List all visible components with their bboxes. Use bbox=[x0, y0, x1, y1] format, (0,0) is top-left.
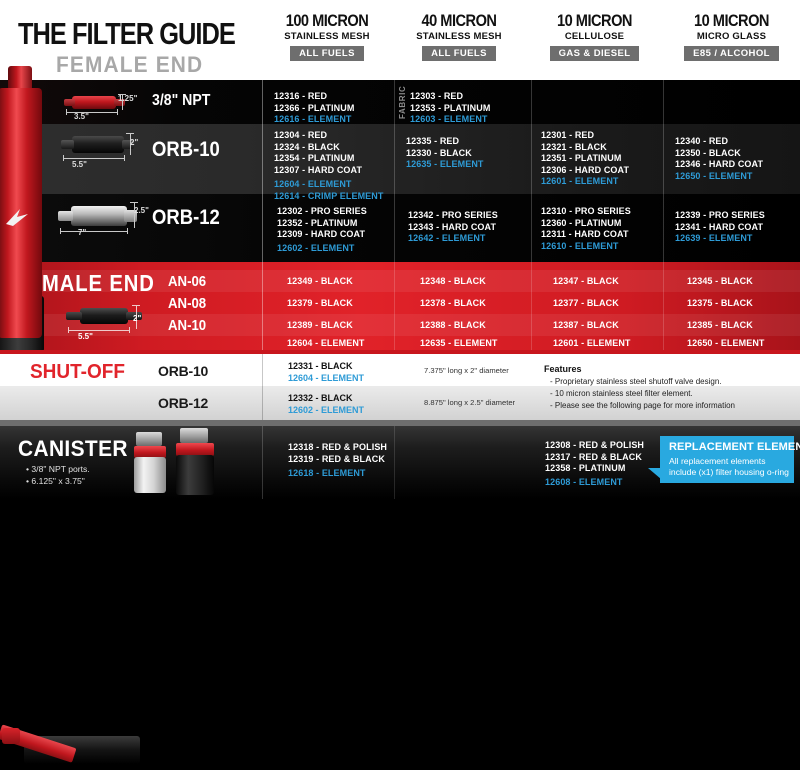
cell-element-10micron-cellulose: 12601 - ELEMENT bbox=[553, 338, 631, 350]
column-header-sub: STAINLESS MESH bbox=[394, 31, 524, 43]
column-header-sub: MICRO GLASS bbox=[663, 31, 800, 43]
cell-an10-10micron-cellulose: 12387 - BLACK bbox=[553, 320, 619, 332]
cell-an06-100micron: 12349 - BLACK bbox=[287, 276, 353, 288]
column-header-10-micron-micro-glass: 10 MICRON MICRO GLASS E85 / ALCOHOL bbox=[663, 12, 800, 61]
section-title-male-end: MALE END bbox=[42, 270, 155, 297]
callout-line-2: include (x1) filter housing o-ring bbox=[669, 467, 786, 478]
dim-diameter-orb12: 2.5" bbox=[134, 206, 149, 215]
row-label-npt: 3/8" NPT bbox=[152, 92, 210, 110]
features-title: Features bbox=[544, 364, 582, 374]
section-title-canister: CANISTER bbox=[18, 436, 128, 462]
column-header-badge: ALL FUELS bbox=[422, 46, 496, 61]
dim-diameter-npt: 1.25" bbox=[118, 94, 137, 103]
canister-bullet-2: • 6.125" x 3.75" bbox=[26, 476, 85, 486]
cell-shutoff-orb10-parts: 12331 - BLACK 12604 - ELEMENT bbox=[288, 361, 364, 384]
cell-orb10-10micron-microglass: 12340 - RED 12350 - BLACK 12346 - HARD C… bbox=[675, 136, 763, 182]
cell-canister-10micron-cellulose: 12308 - RED & POLISH 12317 - RED & BLACK… bbox=[545, 440, 644, 488]
cell-orb12-100micron: 12302 - PRO SERIES 12352 - PLATINUM 1230… bbox=[277, 206, 367, 254]
dim-length-orb10: 5.5" bbox=[72, 160, 87, 169]
column-divider-2 bbox=[394, 262, 395, 350]
dim-diameter-orb10: 2" bbox=[130, 138, 138, 147]
column-header-main: 40 MICRON bbox=[403, 12, 515, 30]
row-label-an10: AN-10 bbox=[168, 317, 206, 334]
feature-line-1: - Proprietary stainless steel shutoff va… bbox=[550, 377, 722, 386]
brand-logo-icon bbox=[4, 206, 32, 228]
cell-an06-40micron: 12348 - BLACK bbox=[420, 276, 486, 288]
cell-orb10-100micron: 12304 - RED 12324 - BLACK 12354 - PLATIN… bbox=[274, 130, 383, 203]
column-header-sub: STAINLESS MESH bbox=[262, 31, 392, 43]
column-header-40-micron: 40 MICRON STAINLESS MESH ALL FUELS bbox=[394, 12, 524, 61]
cell-an10-10micron-microglass: 12385 - BLACK bbox=[687, 320, 753, 332]
column-header-badge: E85 / ALCOHOL bbox=[684, 46, 779, 61]
cell-canister-100micron: 12318 - RED & POLISH 12319 - RED & BLACK… bbox=[288, 442, 387, 480]
cell-an10-100micron: 12389 - BLACK bbox=[287, 320, 353, 332]
column-header-badge: GAS & DIESEL bbox=[550, 46, 640, 61]
page-title: THE FILTER GUIDE bbox=[18, 16, 235, 52]
cell-an08-100micron: 12379 - BLACK bbox=[287, 298, 353, 310]
dim-diameter-male-end: 2" bbox=[133, 314, 141, 323]
male-end-section: MALE END 5.5" 2" AN-06 AN-08 AN-10 12349… bbox=[0, 262, 800, 350]
product-image-canister-black bbox=[170, 428, 226, 496]
dim-length-orb12: 7" bbox=[78, 228, 86, 237]
feature-line-2: - 10 micron stainless steel filter eleme… bbox=[550, 389, 693, 398]
cell-an06-10micron-cellulose: 12347 - BLACK bbox=[553, 276, 619, 288]
cell-element-40micron: 12635 - ELEMENT bbox=[420, 338, 498, 350]
cell-npt-100micron: 12316 - RED 12366 - PLATINUM 12616 - ELE… bbox=[274, 91, 354, 126]
female-end-section: 3.5" 1.25" 3/8" NPT 12316 - RED 12366 - … bbox=[0, 80, 800, 262]
column-divider-2 bbox=[394, 426, 395, 499]
section-title-shut-off: SHUT-OFF bbox=[30, 361, 125, 384]
dim-length-male-end: 5.5" bbox=[78, 332, 93, 341]
column-divider-4 bbox=[663, 80, 664, 262]
dim-note-shutoff-orb12: 8.875" long x 2.5" diameter bbox=[424, 398, 515, 407]
row-label-an06: AN-06 bbox=[168, 273, 206, 290]
cell-npt-40micron: 12303 - RED 12353 - PLATINUM 12603 - ELE… bbox=[410, 91, 490, 126]
column-divider-1 bbox=[262, 426, 263, 499]
product-image-shutoff-valve bbox=[0, 718, 144, 770]
column-header-sub: CELLULOSE bbox=[527, 31, 662, 43]
cell-orb10-10micron-cellulose: 12301 - RED 12321 - BLACK 12351 - PLATIN… bbox=[541, 130, 629, 188]
product-image-orb10-filter bbox=[58, 128, 142, 166]
feature-line-3: - Please see the following page for more… bbox=[550, 401, 735, 410]
cell-element-10micron-microglass: 12650 - ELEMENT bbox=[687, 338, 765, 350]
column-header-main: 10 MICRON bbox=[536, 12, 652, 30]
column-header-10-micron-cellulose: 10 MICRON CELLULOSE GAS & DIESEL bbox=[527, 12, 662, 61]
divider-grey-stripe bbox=[0, 420, 800, 426]
column-header-100-micron: 100 MICRON STAINLESS MESH ALL FUELS bbox=[262, 12, 392, 61]
row-label-shutoff-orb12: ORB-12 bbox=[158, 395, 208, 411]
cell-orb12-40micron: 12342 - PRO SERIES 12343 - HARD COAT 126… bbox=[408, 210, 498, 245]
shut-off-section: SHUT-OFF ORB-10 ORB-12 12331 - BLACK 126… bbox=[0, 350, 800, 420]
cell-an08-40micron: 12378 - BLACK bbox=[420, 298, 486, 310]
row-label-shutoff-orb10: ORB-10 bbox=[158, 363, 208, 379]
cell-element-100micron: 12604 - ELEMENT bbox=[287, 338, 365, 350]
row-label-orb12: ORB-12 bbox=[152, 206, 220, 230]
cell-orb10-40micron: 12335 - RED 12330 - BLACK 12635 - ELEMEN… bbox=[406, 136, 484, 171]
cell-an08-10micron-cellulose: 12377 - BLACK bbox=[553, 298, 619, 310]
row-label-an08: AN-08 bbox=[168, 295, 206, 312]
cell-an10-40micron: 12388 - BLACK bbox=[420, 320, 486, 332]
cell-an08-10micron-microglass: 12375 - BLACK bbox=[687, 298, 753, 310]
product-image-orb12-filter bbox=[55, 198, 147, 240]
dim-note-shutoff-orb10: 7.375" long x 2" diameter bbox=[424, 366, 509, 375]
section-subtitle-female-end: FEMALE END bbox=[56, 52, 203, 78]
canister-bullet-1: • 3/8" NPT ports. bbox=[26, 464, 90, 474]
column-header-main: 10 MICRON bbox=[673, 12, 791, 30]
column-divider-1 bbox=[262, 354, 263, 420]
filter-guide-sheet: THE FILTER GUIDE FEMALE END 100 MICRON S… bbox=[0, 0, 800, 499]
product-image-large-red-filter bbox=[0, 66, 50, 338]
column-divider-3 bbox=[531, 80, 532, 262]
replacement-elements-callout: REPLACEMENT ELEMENTS All replacement ele… bbox=[660, 436, 794, 483]
cell-shutoff-orb12-parts: 12332 - BLACK 12602 - ELEMENT bbox=[288, 393, 364, 416]
column-divider-3 bbox=[531, 262, 532, 350]
cell-orb12-10micron-cellulose: 12310 - PRO SERIES 12360 - PLATINUM 1231… bbox=[541, 206, 631, 252]
cell-orb12-10micron-microglass: 12339 - PRO SERIES 12341 - HARD COAT 126… bbox=[675, 210, 765, 245]
header: THE FILTER GUIDE FEMALE END 100 MICRON S… bbox=[0, 0, 800, 80]
column-header-badge: ALL FUELS bbox=[290, 46, 364, 61]
column-divider-2 bbox=[394, 80, 395, 262]
row-label-orb10: ORB-10 bbox=[152, 138, 220, 162]
column-header-main: 100 MICRON bbox=[271, 12, 383, 30]
column-divider-1 bbox=[262, 80, 263, 262]
column-divider-4 bbox=[663, 262, 664, 350]
product-image-npt-filter bbox=[60, 88, 132, 118]
cell-an06-10micron-microglass: 12345 - BLACK bbox=[687, 276, 753, 288]
callout-line-1: All replacement elements bbox=[669, 456, 786, 467]
fabric-side-label: FABRIC bbox=[398, 89, 407, 119]
callout-title: REPLACEMENT ELEMENTS bbox=[669, 441, 786, 454]
column-divider-1 bbox=[262, 262, 263, 350]
dim-length-npt: 3.5" bbox=[74, 112, 89, 121]
canister-section: CANISTER • 3/8" NPT ports. • 6.125" x 3.… bbox=[0, 420, 800, 499]
